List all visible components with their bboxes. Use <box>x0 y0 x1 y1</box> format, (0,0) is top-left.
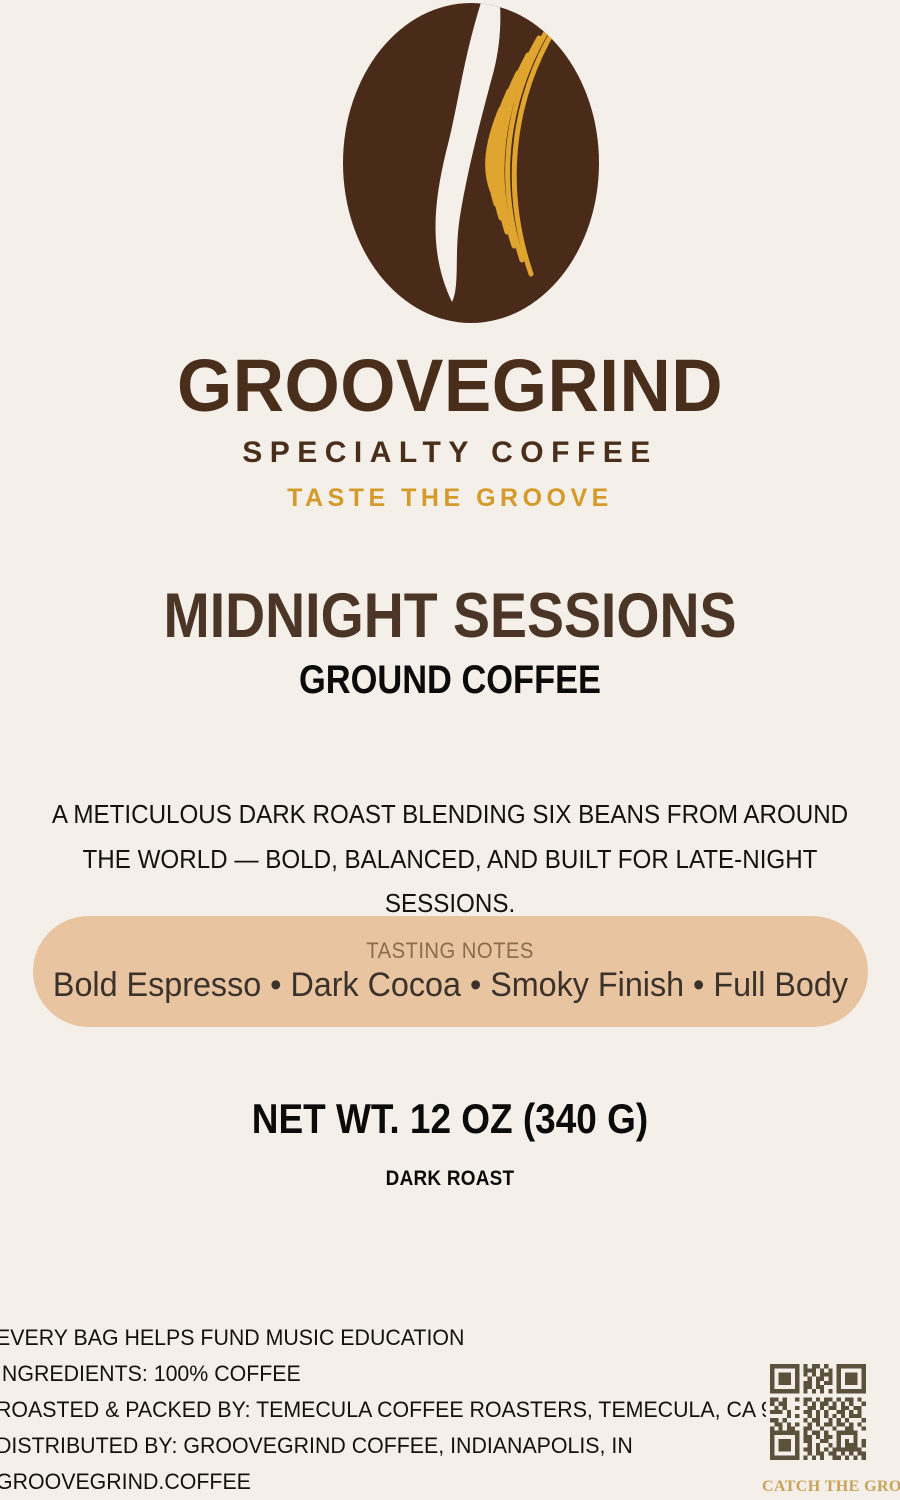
product-subtitle: GROUND COFFEE <box>63 660 837 700</box>
brand-block: GROOVEGRIND SPECIALTY COFFEE TASTE THE G… <box>0 352 900 513</box>
brand-name: GROOVEGRIND <box>18 352 882 420</box>
coffee-bean-soundwave-icon <box>342 2 600 324</box>
footer-line-website: GROOVEGRIND.COFFEE <box>0 1464 714 1500</box>
product-title: MIDNIGHT SESSIONS <box>54 585 846 648</box>
product-description: A METICULOUS DARK ROAST BLENDING SIX BEA… <box>32 792 869 926</box>
brand-tagline: TASTE THE GROOVE <box>0 484 900 513</box>
footer-line-distributor: DISTRIBUTED BY: GROOVEGRIND COFFEE, INDI… <box>0 1428 714 1464</box>
footer-line-ingredients: INGREDIENTS: 100% COFFEE <box>0 1356 714 1392</box>
qr-code-icon[interactable] <box>766 1360 870 1464</box>
footer-line-mission: EVERY BAG HELPS FUND MUSIC EDUCATION <box>0 1320 714 1356</box>
net-weight: NET WT. 12 OZ (340 G) <box>54 1095 846 1143</box>
footer-line-roaster: ROASTED & PACKED BY: TEMECULA COFFEE ROA… <box>0 1392 714 1428</box>
qr-caption: CATCH THE GROOVE <box>762 1478 874 1496</box>
footer-info-block: EVERY BAG HELPS FUND MUSIC EDUCATION ING… <box>0 1320 736 1500</box>
product-label: GROOVEGRIND SPECIALTY COFFEE TASTE THE G… <box>0 0 900 1500</box>
tasting-notes-label: TASTING NOTES <box>367 938 535 964</box>
roast-level: DARK ROAST <box>45 1167 855 1191</box>
tasting-notes-pill: TASTING NOTES Bold Espresso • Dark Cocoa… <box>33 916 868 1027</box>
brand-subtitle: SPECIALTY COFFEE <box>0 436 900 470</box>
tasting-notes-value: Bold Espresso • Dark Cocoa • Smoky Finis… <box>53 966 848 1005</box>
qr-block: CATCH THE GROOVE <box>762 1360 874 1496</box>
